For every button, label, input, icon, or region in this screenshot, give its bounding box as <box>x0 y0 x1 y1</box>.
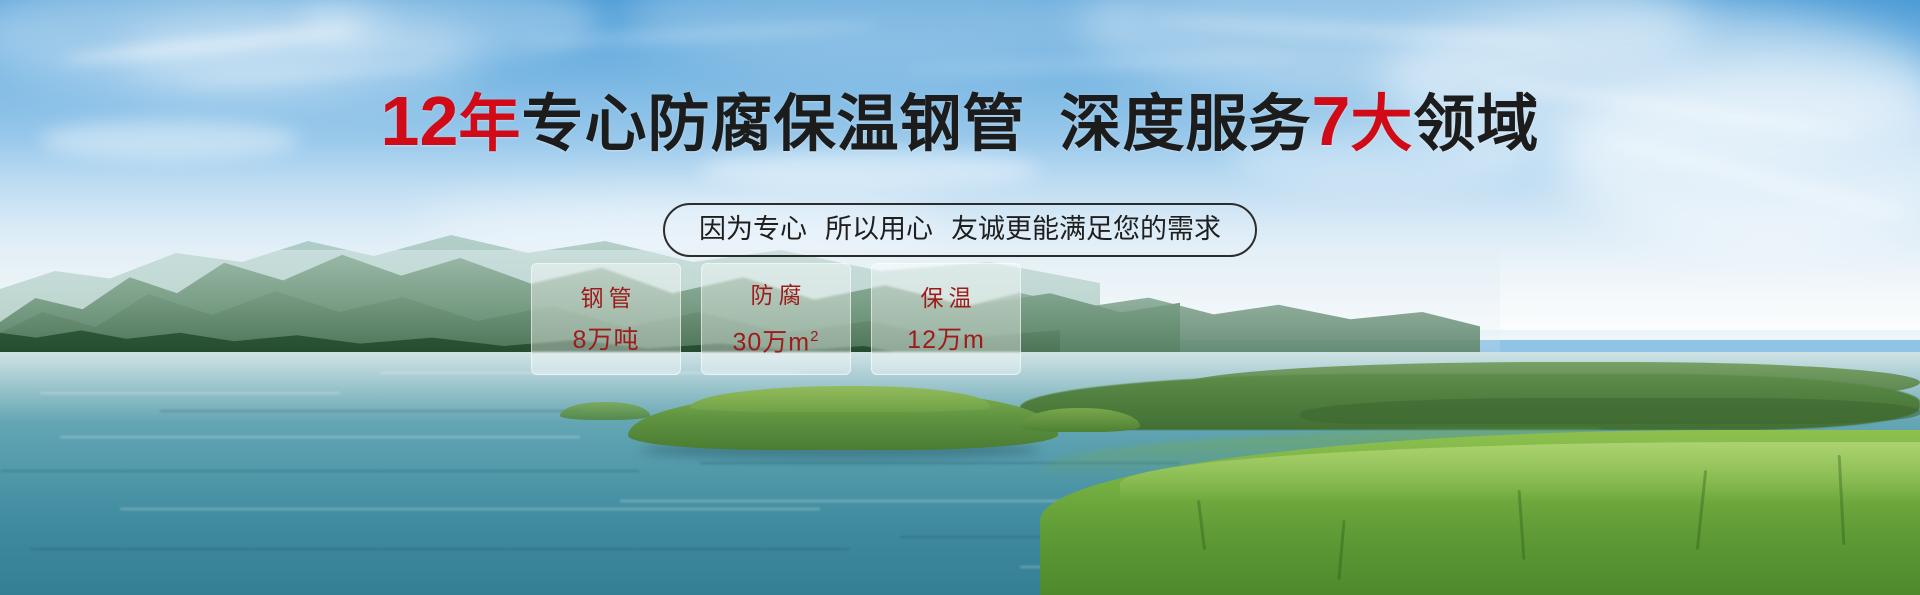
stat-card-value-text: 30万m <box>733 329 811 357</box>
hero-banner: 12年专心防腐保温钢管深度服务7大领域 因为专心所以用心友诚更能满足您的需求 钢… <box>0 0 1920 595</box>
stat-card-steel-pipe: 钢管 8万吨 <box>531 263 681 375</box>
stat-card-value-superscript: 2 <box>810 328 819 345</box>
water-ripple <box>0 470 640 472</box>
water-ripple <box>120 508 820 510</box>
stat-card-anticorrosion: 防腐 30万m2 <box>701 263 851 375</box>
subtitle-segment-3: 友诚更能满足您的需求 <box>951 214 1221 244</box>
subtitle-segment-1: 因为专心 <box>699 214 807 244</box>
stat-card-value: 30万m2 <box>733 322 820 357</box>
stat-card-value-text: 12万m <box>907 326 985 354</box>
headline-years-unit: 年 <box>458 90 521 159</box>
marsh-shadow <box>1300 398 1920 424</box>
page-title: 12年专心防腐保温钢管深度服务7大领域 <box>0 86 1920 160</box>
stat-card-value-text: 8万吨 <box>573 326 640 354</box>
headline-part-2: 专心防腐保温钢管 <box>521 90 1025 159</box>
subtitle-pill: 因为专心所以用心友诚更能满足您的需求 <box>663 203 1257 257</box>
stat-card-label: 防腐 <box>746 280 807 310</box>
stat-card-value: 12万m <box>907 325 985 355</box>
subtitle-segment-2: 所以用心 <box>825 214 933 244</box>
headline-part-5: 领域 <box>1413 90 1539 159</box>
water-ripple <box>40 392 340 394</box>
stat-card-value: 8万吨 <box>573 325 640 355</box>
water-ripple <box>60 436 580 438</box>
water-ripple <box>160 410 580 412</box>
stat-card-insulation: 保温 12万m <box>871 263 1021 375</box>
water-ripple <box>30 548 850 550</box>
headline-years-number: 12 <box>381 82 459 160</box>
stat-card-list: 钢管 8万吨 防腐 30万m2 保温 12万m <box>531 263 1021 375</box>
headline-fields-unit: 大 <box>1350 90 1413 159</box>
headline-part-3: 深度服务 <box>1059 90 1311 159</box>
stat-card-label: 钢管 <box>576 283 637 313</box>
stat-card-label: 保温 <box>916 283 977 313</box>
headline-fields-number: 7 <box>1311 82 1350 160</box>
